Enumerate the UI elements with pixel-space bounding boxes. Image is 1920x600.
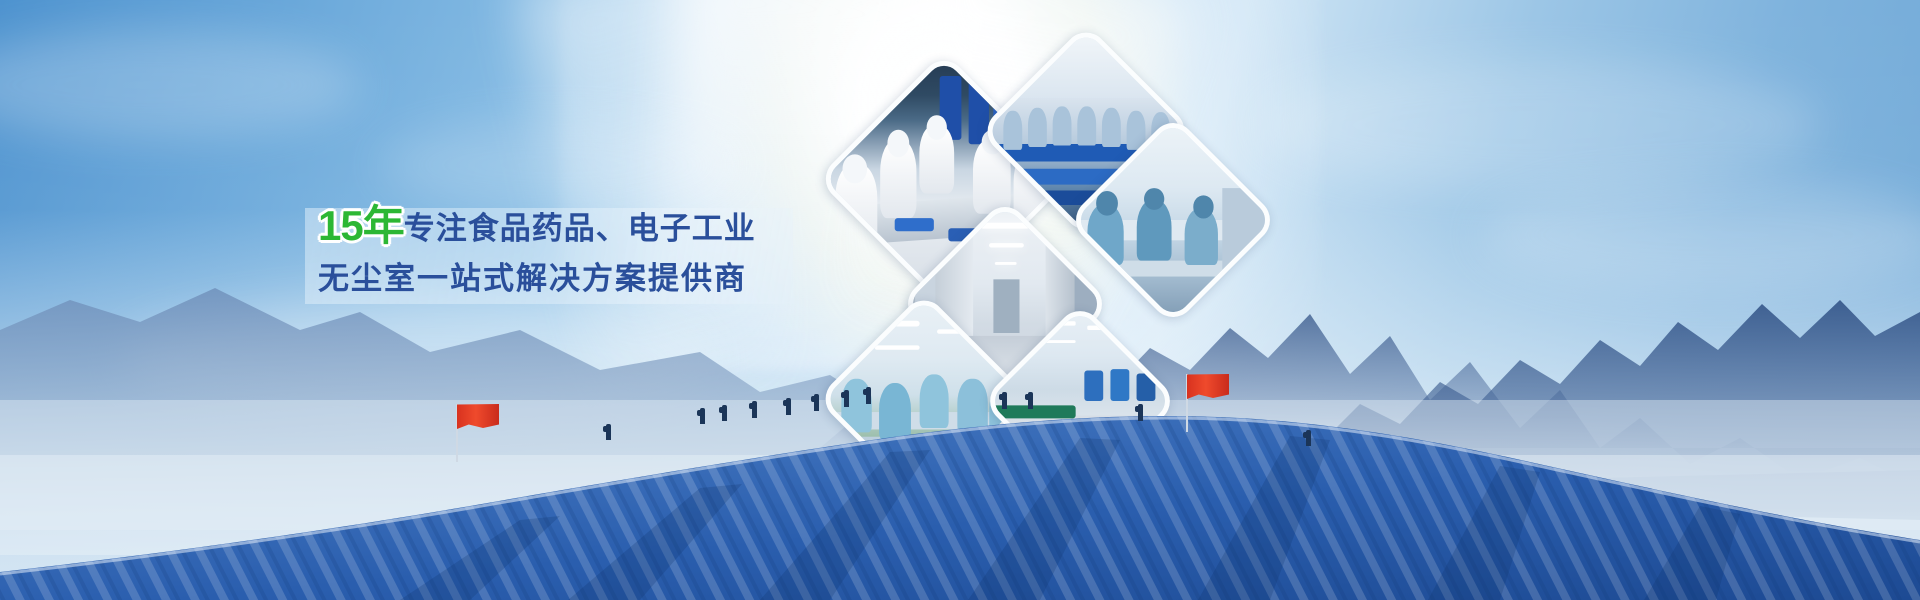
hiker-pack	[811, 396, 816, 402]
hiker-pack	[749, 403, 754, 409]
hiker-pack	[783, 400, 788, 406]
flag-cloth	[1187, 374, 1229, 399]
hiker-pack	[603, 426, 608, 432]
hiker-pack	[719, 407, 724, 413]
hiker-pack	[999, 394, 1004, 400]
hiker-pack	[863, 389, 868, 395]
hiker-pack	[1025, 394, 1030, 400]
flag-left-graphic	[456, 404, 500, 462]
hero-banner: 15年专注食品药品、电子工业 无尘室一站式解决方案提供商	[0, 0, 1920, 600]
hiker-pack	[1303, 432, 1308, 438]
hiker-pack	[697, 410, 702, 416]
years-highlight: 15年	[318, 202, 404, 249]
headline-block: 15年专注食品药品、电子工业 无尘室一站式解决方案提供商	[318, 204, 788, 301]
hiker-pack	[1135, 406, 1140, 412]
headline-line-2: 无尘室一站式解决方案提供商	[318, 257, 788, 301]
flag-cloth	[457, 404, 499, 429]
headline-line-1-text: 专注食品药品、电子工业	[404, 211, 756, 246]
hiker-pack	[841, 392, 846, 398]
flag-right-graphic	[1186, 374, 1230, 432]
headline-line-1: 15年专注食品药品、电子工业	[318, 204, 788, 257]
snow-ridge-foreground	[0, 340, 1920, 600]
